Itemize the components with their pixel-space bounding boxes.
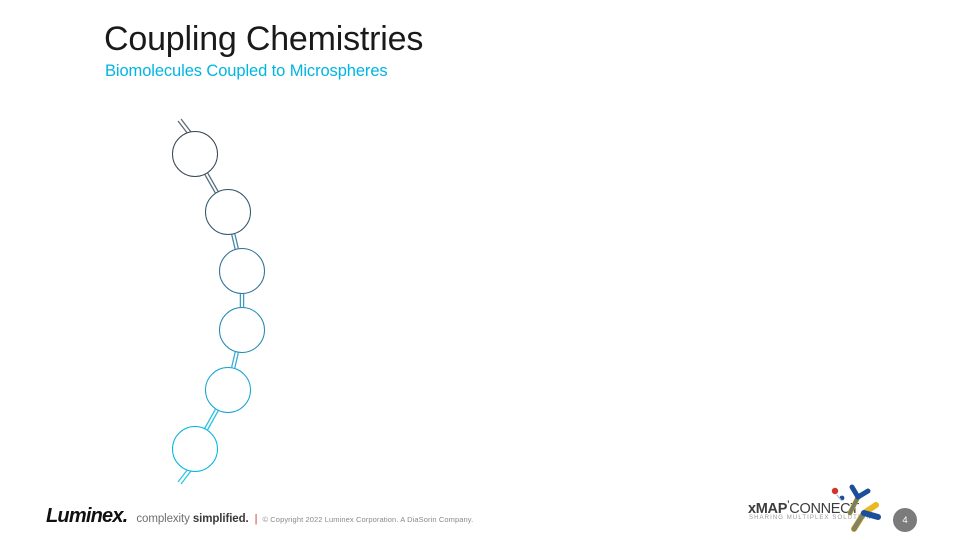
diagram-node-circle bbox=[219, 248, 265, 294]
diagram-bar-label: Small Molecules (cortisol, thyroxine, me… bbox=[261, 370, 718, 410]
diagram-node-circle bbox=[172, 426, 218, 472]
footer-divider: | bbox=[255, 513, 258, 525]
diagram-node-circle bbox=[172, 131, 218, 177]
xmap-connect-logo: xMAP’CONNECT SHARING MULTIPLEX SOLUTIONS bbox=[748, 487, 893, 533]
diagram-bar-label: Carbohydrates bbox=[275, 310, 363, 350]
diagram-node-circle bbox=[205, 367, 251, 413]
diagram-bar-label: Peptides bbox=[275, 251, 327, 291]
copyright-text: © Copyright 2022 Luminex Corporation. A … bbox=[262, 515, 473, 524]
diagram-bar-label: Modified Oligonucleotides bbox=[224, 429, 377, 469]
diagram-node-circle bbox=[219, 307, 265, 353]
tagline-bold: simplified. bbox=[193, 513, 249, 525]
luminex-tagline: complexity simplified. bbox=[136, 513, 248, 525]
antibody-graphic-icon bbox=[820, 483, 892, 533]
diagram-bar-label: Purified Proteins or Antigens bbox=[229, 134, 398, 174]
diagram-bar-label: Antibodies bbox=[261, 192, 324, 232]
page-number-badge: 4 bbox=[893, 508, 917, 532]
luminex-logo: Luminex. bbox=[46, 505, 127, 528]
coupling-chemistry-diagram: Purified Proteins or AntigensAntibodiesP… bbox=[0, 0, 960, 540]
diagram-node-circle bbox=[205, 189, 251, 235]
footer-branding: Luminex. complexity simplified. | © Copy… bbox=[46, 505, 473, 528]
tagline-normal: complexity bbox=[136, 513, 192, 525]
